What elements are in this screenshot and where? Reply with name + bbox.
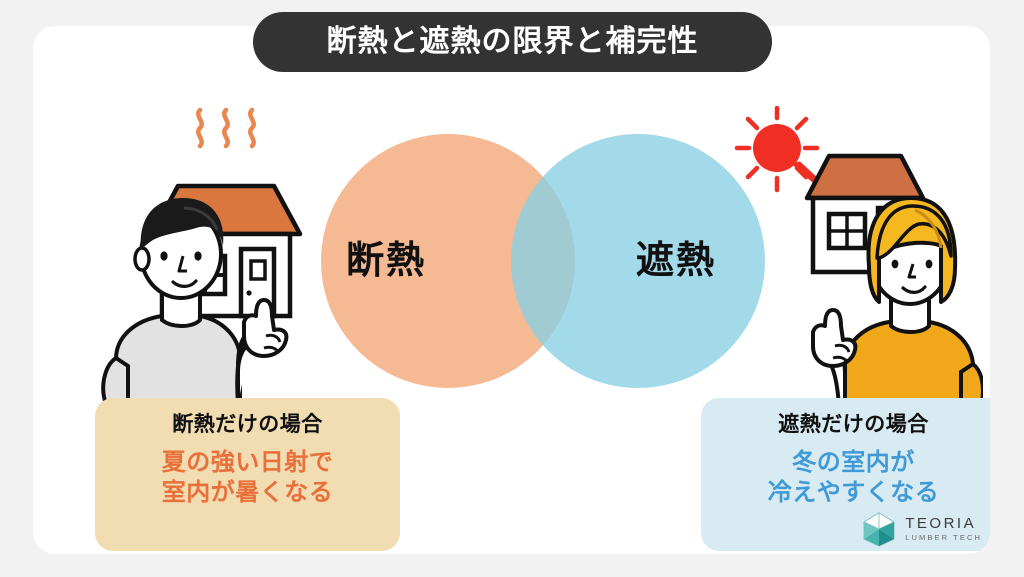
info-card-left-heading: 断熱だけの場合 <box>95 413 400 436</box>
logo-name: TEORIA <box>905 516 982 531</box>
left-illustration <box>88 104 323 409</box>
venn-label-insulation: 断熱 <box>346 242 426 280</box>
info-card-right-body-line1: 冬の室内が <box>701 448 990 478</box>
info-card-left-body: 夏の強い日射で 室内が暑くなる <box>95 448 400 508</box>
slide-white-card: 断熱 遮熱 断熱だけの場合 夏の強い日射で 室内が暑くなる 遮熱だけの場合 冬の… <box>33 26 990 554</box>
logo-text-block: TEORIA LUMBER TECH <box>905 516 982 542</box>
info-card-left-body-line2: 室内が暑くなる <box>95 478 400 508</box>
info-card-insulation-only: 断熱だけの場合 夏の強い日射で 室内が暑くなる <box>95 398 400 551</box>
teoria-crystal-house-icon <box>860 510 898 548</box>
info-card-left-body-line1: 夏の強い日射で <box>95 448 400 478</box>
info-card-right-body-line2: 冷えやすくなる <box>701 478 990 508</box>
slide-root: 断熱 遮熱 断熱だけの場合 夏の強い日射で 室内が暑くなる 遮熱だけの場合 冬の… <box>0 0 1024 577</box>
venn-label-heat-shield: 遮熱 <box>636 242 716 280</box>
sun-icon <box>737 108 817 190</box>
teoria-logo: TEORIA LUMBER TECH <box>860 510 982 548</box>
page-title: 断熱と遮熱の限界と補完性 <box>327 27 699 57</box>
info-card-right-heading: 遮熱だけの場合 <box>701 413 990 436</box>
heat-wave-icon <box>198 110 253 146</box>
title-pill: 断熱と遮熱の限界と補完性 <box>253 12 772 72</box>
info-card-right-body: 冬の室内が 冷えやすくなる <box>701 448 990 508</box>
logo-subtitle: LUMBER TECH <box>905 534 982 542</box>
right-illustration <box>733 106 983 411</box>
